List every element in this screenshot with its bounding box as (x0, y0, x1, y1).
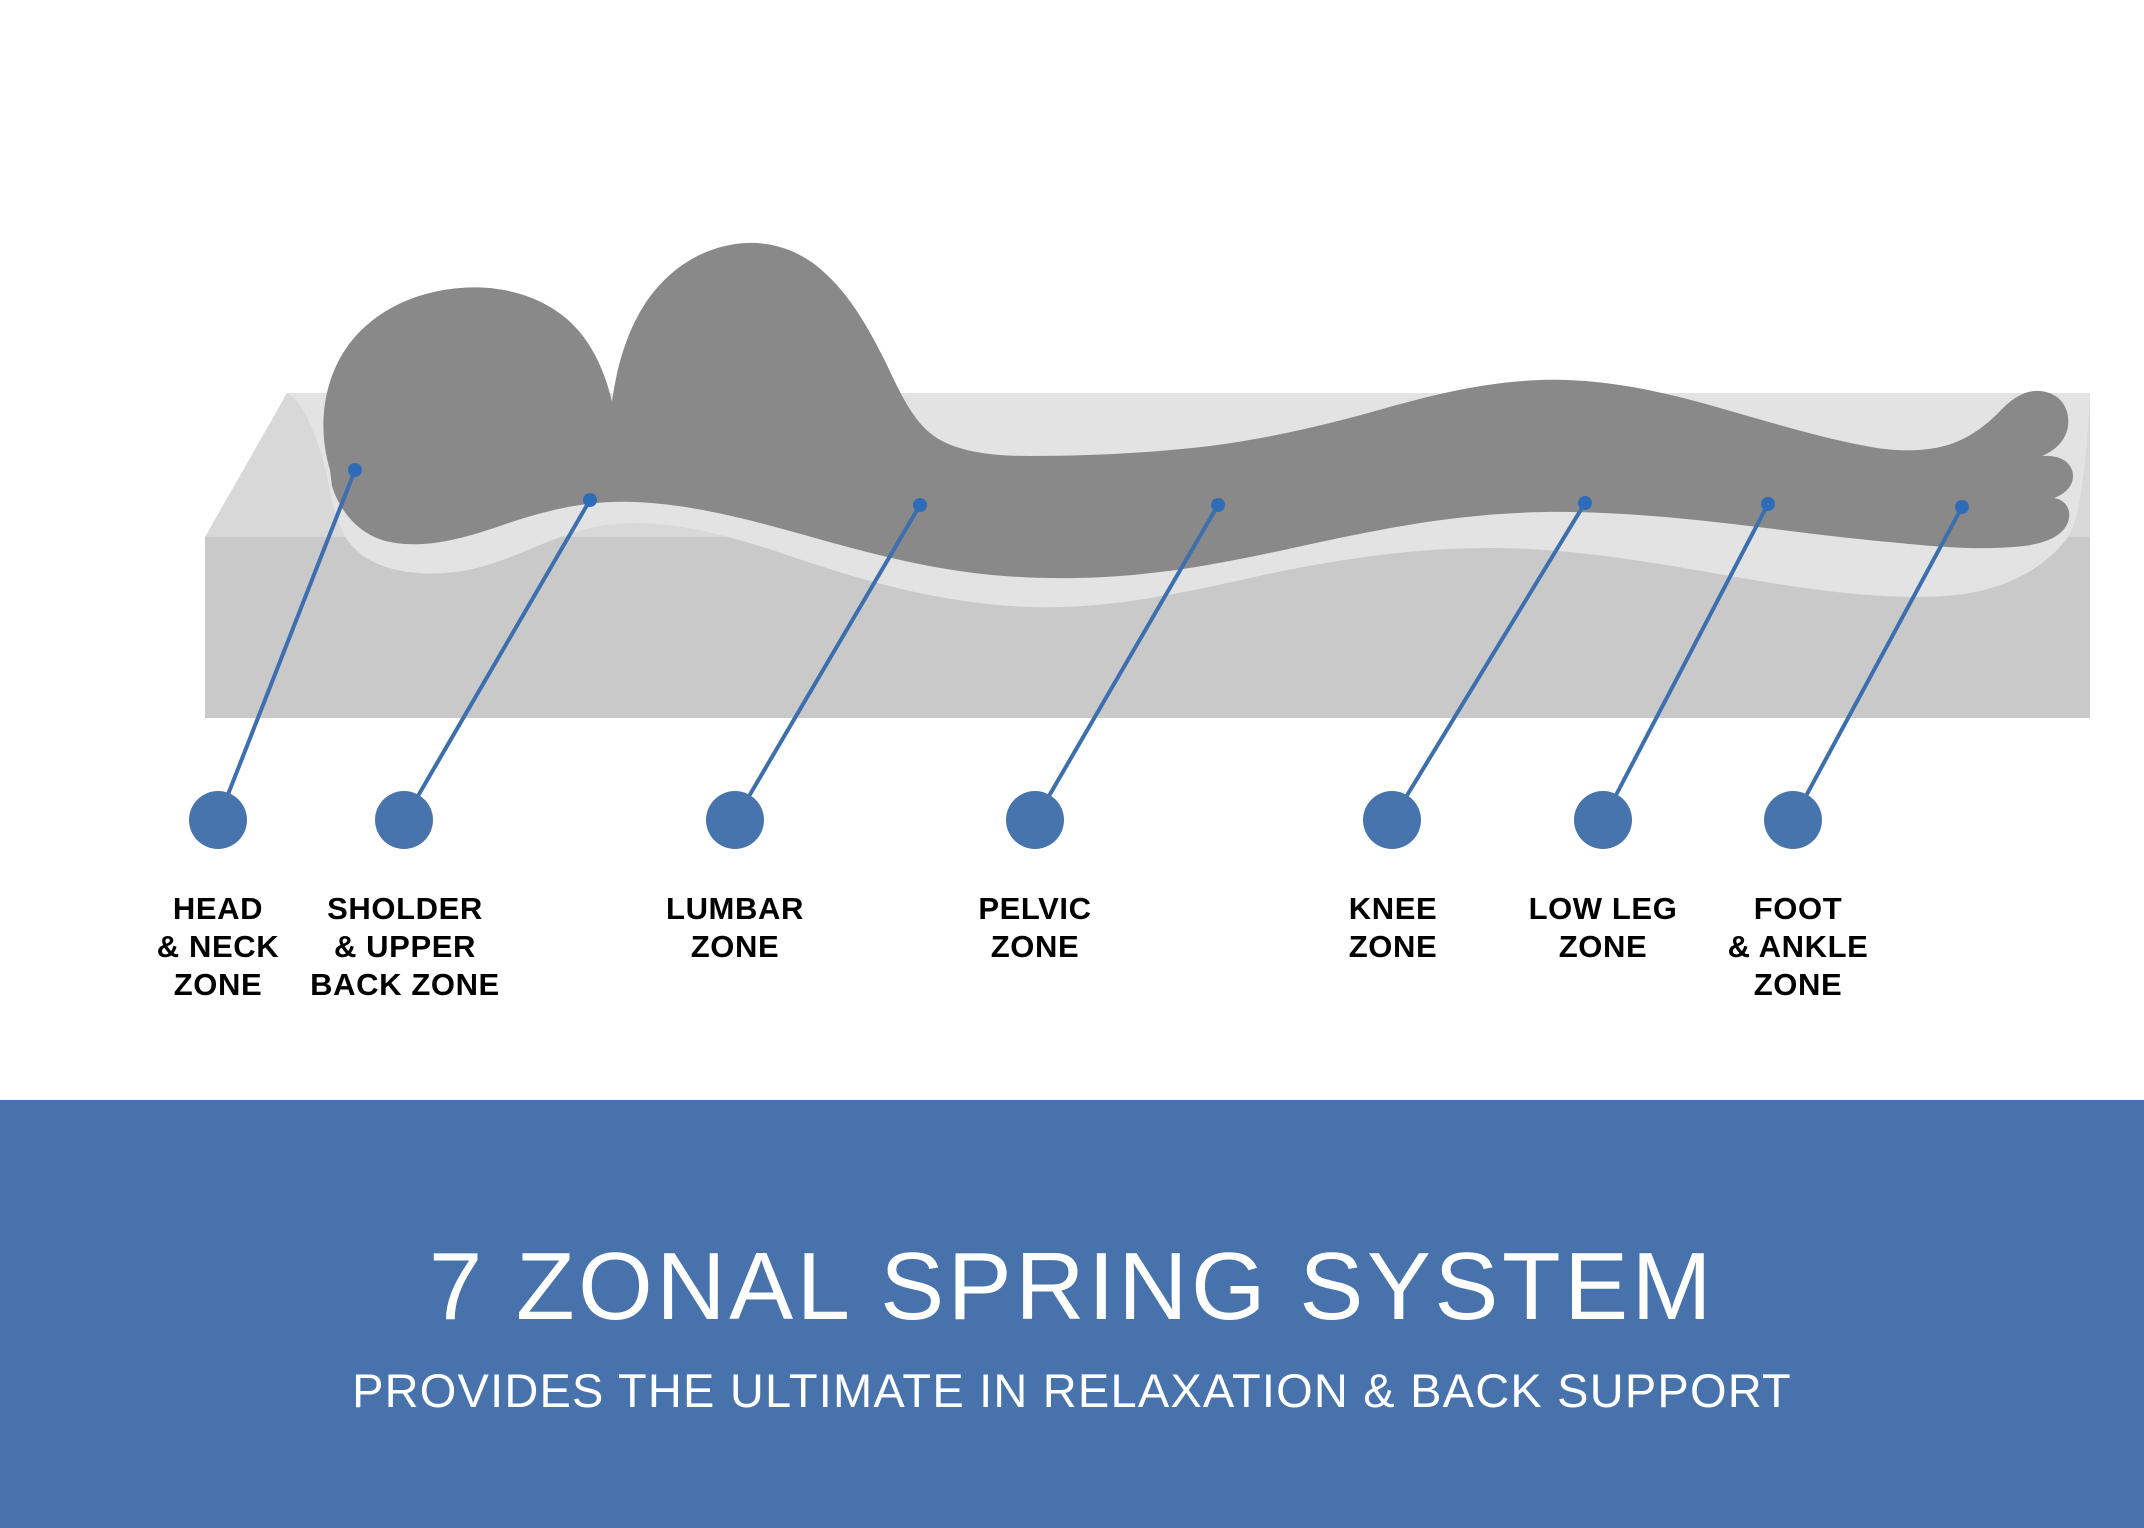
zone-label-group: HEAD & NECK ZONE SHOLDER & UPPER BACK ZO… (0, 860, 2144, 1090)
zone-label-shoulder-upper-back: SHOLDER & UPPER BACK ZONE (290, 890, 520, 1004)
zone-dot-foot-ankle (1764, 791, 1822, 849)
bottom-banner: 7 ZONAL SPRING SYSTEM PROVIDES THE ULTIM… (0, 1100, 2144, 1528)
infographic-canvas: HEAD & NECK ZONE SHOLDER & UPPER BACK ZO… (0, 0, 2144, 1528)
zone-dot-shoulder-upper-back (375, 791, 433, 849)
zone-dot-head-neck (189, 791, 247, 849)
zone-label-lumbar: LUMBAR ZONE (620, 890, 850, 966)
banner-subtitle: PROVIDES THE ULTIMATE IN RELAXATION & BA… (352, 1363, 1792, 1419)
zone-label-pelvic: PELVIC ZONE (920, 890, 1150, 966)
zone-dot-knee (1363, 791, 1421, 849)
zone-label-knee: KNEE ZONE (1278, 890, 1508, 966)
zone-dot-lumbar (706, 791, 764, 849)
zone-label-head-neck: HEAD & NECK ZONE (118, 890, 318, 1004)
banner-title: 7 ZONAL SPRING SYSTEM (429, 1235, 1715, 1339)
zone-label-foot-ankle: FOOT & ANKLE ZONE (1678, 890, 1918, 1004)
zone-dot-pelvic (1006, 791, 1064, 849)
zone-dot-low-leg (1574, 791, 1632, 849)
